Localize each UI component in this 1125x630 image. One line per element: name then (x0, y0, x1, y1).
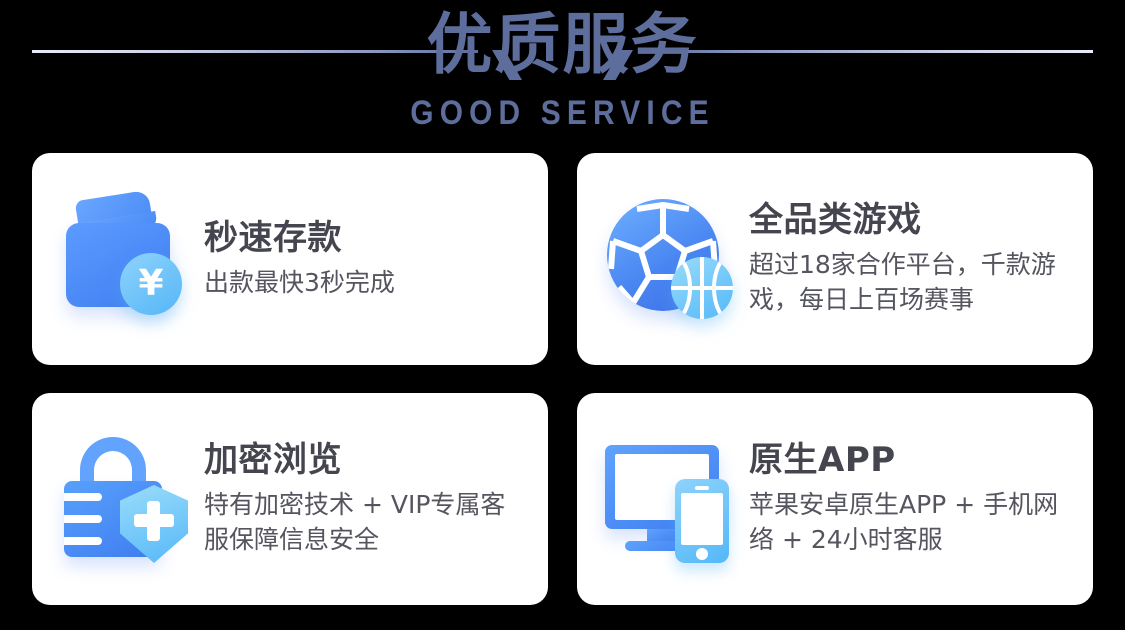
feature-card-text: 全品类游戏 超过18家合作平台，千款游戏，每日上百场赛事 (743, 200, 1075, 318)
padlock-stripe-icon (64, 515, 102, 523)
feature-card-text: 原生APP 苹果安卓原生APP + 手机网络 + 24小时客服 (743, 440, 1075, 558)
feature-card-native-app[interactable]: 原生APP 苹果安卓原生APP + 手机网络 + 24小时客服 (577, 393, 1093, 605)
phone-home-button-icon (696, 548, 708, 560)
card-description: 超过18家合作平台，千款游戏，每日上百场赛事 (749, 247, 1075, 318)
cross-icon (147, 501, 160, 541)
feature-card-deposit[interactable]: ¥ 秒速存款 出款最快3秒完成 (32, 153, 548, 365)
padlock-stripe-icon (64, 537, 102, 545)
card-title: 原生APP (749, 440, 1075, 481)
soccer-ball-icon (603, 189, 743, 329)
card-description: 出款最快3秒完成 (204, 265, 530, 301)
basketball-badge-icon (671, 257, 733, 319)
feature-card-text: 加密浏览 特有加密技术 + VIP专属客服保障信息安全 (198, 440, 530, 558)
card-title: 秒速存款 (204, 218, 530, 259)
phone-speaker-icon (695, 486, 709, 490)
feature-card-grid: ¥ 秒速存款 出款最快3秒完成 (32, 153, 1093, 605)
card-title: 全品类游戏 (749, 200, 1075, 241)
card-description: 特有加密技术 + VIP专属客服保障信息安全 (204, 487, 530, 558)
yen-coin-badge-icon: ¥ (120, 253, 182, 315)
feature-card-text: 秒速存款 出款最快3秒完成 (198, 218, 530, 300)
padlock-stripe-icon (64, 493, 102, 501)
page-subtitle: GOOD SERVICE (68, 94, 1058, 133)
padlock-icon (58, 429, 198, 569)
phone-screen-icon (681, 493, 723, 545)
page-header: 优质服务 GOOD SERVICE (0, 0, 1125, 148)
smartphone-badge-icon (675, 479, 729, 563)
card-description: 苹果安卓原生APP + 手机网络 + 24小时客服 (749, 487, 1075, 558)
card-title: 加密浏览 (204, 440, 530, 481)
wallet-icon: ¥ (58, 189, 198, 329)
feature-card-encryption[interactable]: 加密浏览 特有加密技术 + VIP专属客服保障信息安全 (32, 393, 548, 605)
page-title: 优质服务 (0, 6, 1125, 84)
monitor-icon (603, 429, 743, 569)
feature-card-games[interactable]: 全品类游戏 超过18家合作平台，千款游戏，每日上百场赛事 (577, 153, 1093, 365)
